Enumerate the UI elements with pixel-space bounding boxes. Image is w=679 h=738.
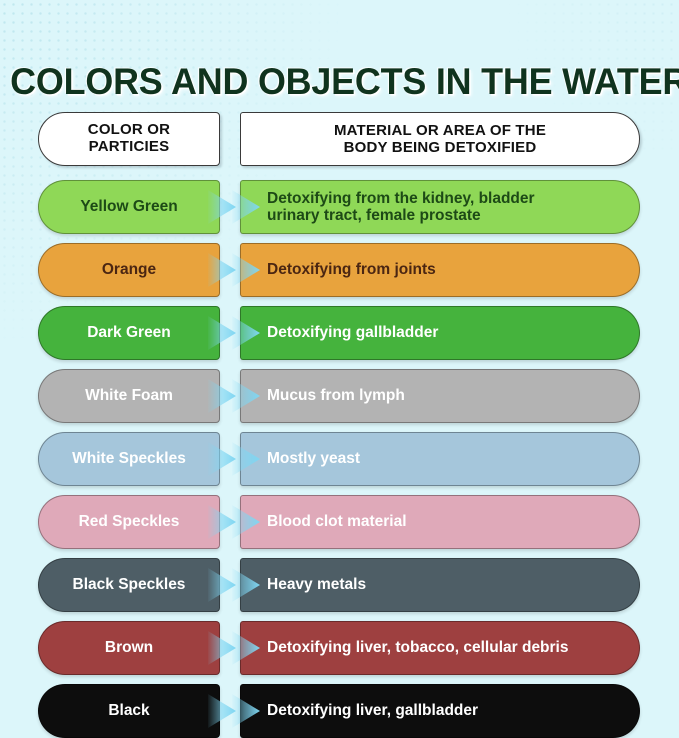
table-row: BlackDetoxifying liver, gallbladder: [0, 684, 679, 738]
page-title: COLORS AND OBJECTS IN THE WATER: [10, 61, 669, 103]
header-color-line1: COLOR OR: [88, 121, 170, 138]
row-spacer: [0, 360, 679, 369]
material-cell: Detoxifying from joints: [240, 243, 640, 297]
color-label: Yellow Green: [80, 198, 177, 215]
color-label: Black: [108, 702, 149, 719]
row-spacer: [0, 486, 679, 495]
row-spacer: [0, 675, 679, 684]
material-text-line1: Heavy metals: [267, 576, 366, 593]
color-label: Brown: [105, 639, 153, 656]
infographic-root: COLORS AND OBJECTS IN THE WATER COLOR OR…: [0, 0, 679, 679]
table-rows: Yellow GreenDetoxifying from the kidney,…: [0, 180, 679, 738]
material-text-line1: Detoxifying liver, gallbladder: [267, 702, 478, 719]
material-text-line1: Detoxifying from joints: [267, 261, 436, 278]
table-row: Dark GreenDetoxifying gallbladder: [0, 306, 679, 360]
material-cell: Mostly yeast: [240, 432, 640, 486]
row-spacer: [0, 549, 679, 558]
color-label: Black Speckles: [73, 576, 186, 593]
material-text-line1: Blood clot material: [267, 513, 407, 530]
material-text-line1: Mostly yeast: [267, 450, 360, 467]
color-cell: White Foam: [38, 369, 220, 423]
color-label: White Foam: [85, 387, 173, 404]
table-row: Black SpecklesHeavy metals: [0, 558, 679, 612]
material-text-line1: Detoxifying from the kidney, bladder: [267, 190, 535, 207]
material-text-line1: Mucus from lymph: [267, 387, 405, 404]
header-color-line2: PARTICIES: [89, 138, 170, 155]
material-cell: Detoxifying from the kidney, bladderurin…: [240, 180, 640, 234]
color-cell: Black Speckles: [38, 558, 220, 612]
table-row: White FoamMucus from lymph: [0, 369, 679, 423]
table-row: White SpecklesMostly yeast: [0, 432, 679, 486]
color-cell: Orange: [38, 243, 220, 297]
material-cell: Detoxifying liver, gallbladder: [240, 684, 640, 738]
color-cell: Yellow Green: [38, 180, 220, 234]
material-text-line1: Detoxifying gallbladder: [267, 324, 438, 341]
material-text-line2: urinary tract, female prostate: [267, 207, 481, 224]
material-cell: Mucus from lymph: [240, 369, 640, 423]
table-row: BrownDetoxifying liver, tobacco, cellula…: [0, 621, 679, 675]
color-cell: Red Speckles: [38, 495, 220, 549]
row-spacer: [0, 297, 679, 306]
header-cell-color: COLOR OR PARTICIES: [38, 112, 220, 166]
table-header-row: COLOR OR PARTICIES MATERIAL OR AREA OF T…: [0, 112, 679, 166]
table-row: Red SpecklesBlood clot material: [0, 495, 679, 549]
color-label: White Speckles: [72, 450, 186, 467]
color-cell: White Speckles: [38, 432, 220, 486]
color-cell: Brown: [38, 621, 220, 675]
row-spacer: [0, 423, 679, 432]
material-cell: Detoxifying liver, tobacco, cellular deb…: [240, 621, 640, 675]
color-label: Dark Green: [87, 324, 171, 341]
header-material-line2: BODY BEING DETOXIFIED: [344, 139, 537, 156]
color-label: Orange: [102, 261, 156, 278]
material-cell: Blood clot material: [240, 495, 640, 549]
material-cell: Detoxifying gallbladder: [240, 306, 640, 360]
color-cell: Dark Green: [38, 306, 220, 360]
table-row: OrangeDetoxifying from joints: [0, 243, 679, 297]
header-spacer: [0, 166, 679, 180]
color-cell: Black: [38, 684, 220, 738]
header-cell-material: MATERIAL OR AREA OF THE BODY BEING DETOX…: [240, 112, 640, 166]
material-cell: Heavy metals: [240, 558, 640, 612]
color-guide-table: COLOR OR PARTICIES MATERIAL OR AREA OF T…: [0, 112, 679, 738]
header-material-line1: MATERIAL OR AREA OF THE: [334, 122, 546, 139]
material-text-line1: Detoxifying liver, tobacco, cellular deb…: [267, 639, 569, 656]
row-spacer: [0, 612, 679, 621]
table-row: Yellow GreenDetoxifying from the kidney,…: [0, 180, 679, 234]
row-spacer: [0, 234, 679, 243]
color-label: Red Speckles: [79, 513, 180, 530]
